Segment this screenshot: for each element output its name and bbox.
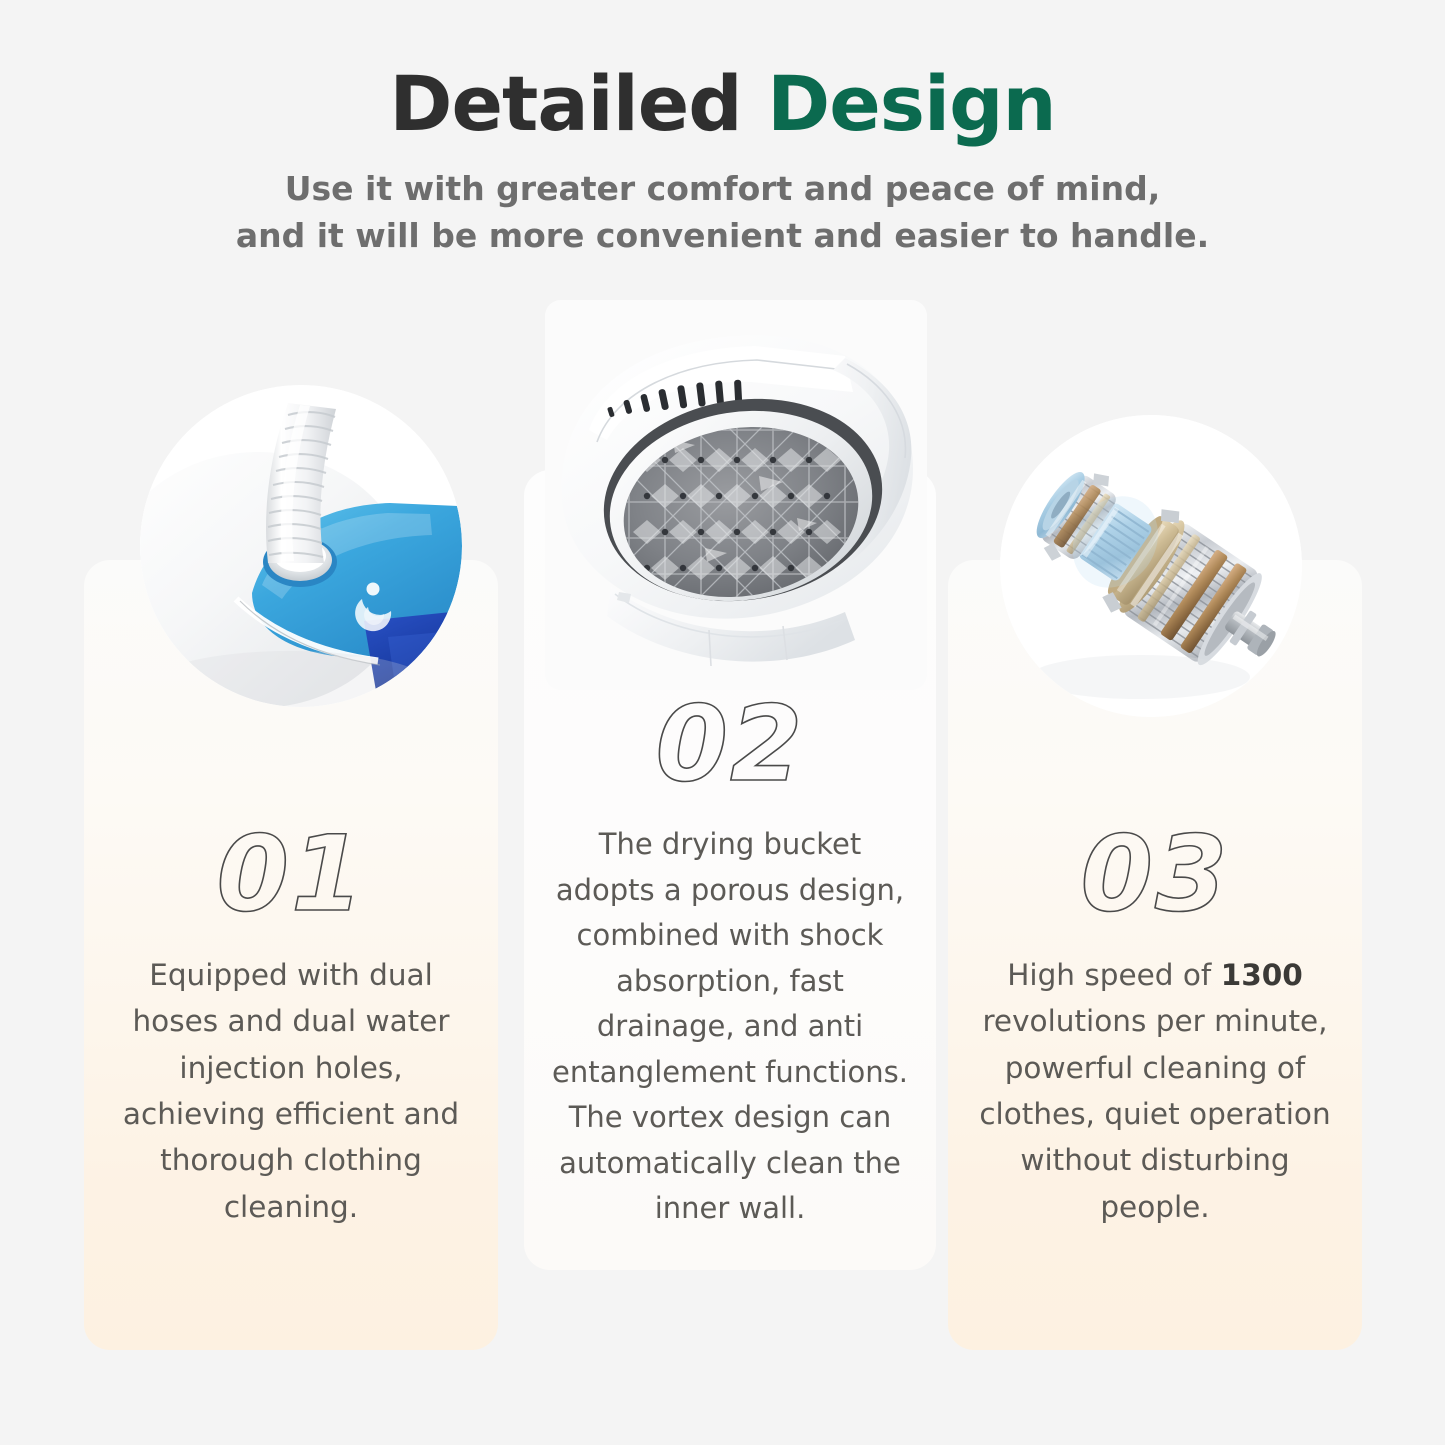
infographic-page: Detailed Design Use it with greater comf… — [0, 0, 1445, 1445]
header: Detailed Design Use it with greater comf… — [0, 64, 1445, 260]
card-number-01: 01 — [84, 822, 498, 926]
card-desc-03-rpm: 1300 — [1221, 958, 1303, 992]
page-subtitle-line2: and it will be more convenient and easie… — [0, 213, 1445, 260]
page-title: Detailed Design — [0, 64, 1445, 144]
page-subtitle: Use it with greater comfort and peace of… — [0, 166, 1445, 260]
card-description-01: Equipped with dual hoses and dual water … — [84, 952, 498, 1230]
motor-assembly-photo — [1000, 415, 1302, 717]
card-desc-03-before: High speed of — [1007, 958, 1221, 992]
page-title-part1: Detailed — [389, 59, 767, 148]
card-number-03: 03 — [948, 822, 1362, 926]
drying-bucket-drum-photo — [545, 300, 927, 690]
card-description-02: The drying bucket adopts a porous design… — [524, 822, 936, 1232]
card-description-03: High speed of 1300 revolutions per minut… — [948, 952, 1362, 1230]
page-subtitle-line1: Use it with greater comfort and peace of… — [0, 166, 1445, 213]
page-title-part2: Design — [767, 59, 1055, 148]
card-number-02: 02 — [524, 692, 936, 796]
card-desc-03-after: revolutions per minute, powerful cleanin… — [979, 1004, 1330, 1223]
water-inlet-hose-photo — [140, 385, 462, 707]
